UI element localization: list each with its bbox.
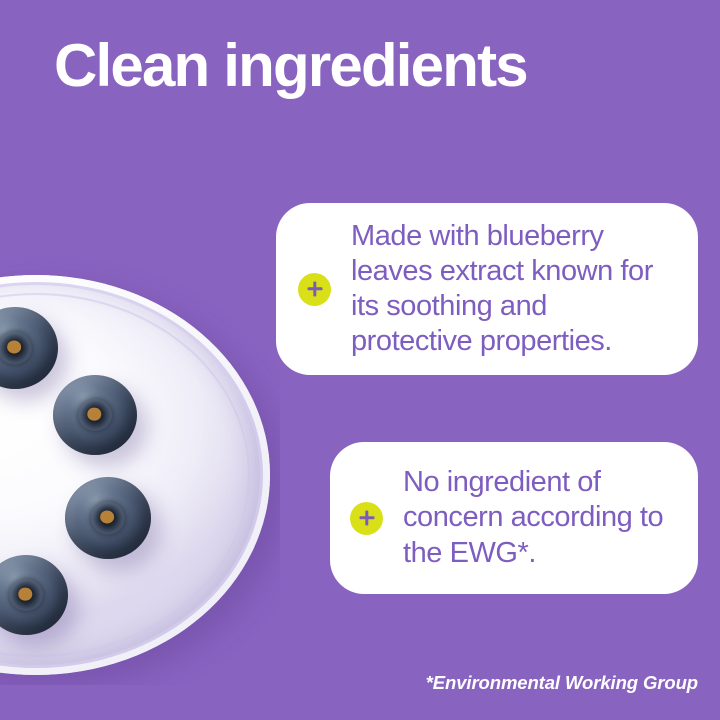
page-title: Clean ingredients	[54, 34, 674, 97]
feature-card-text: Made with blueberry leaves extract known…	[351, 219, 672, 359]
blueberry	[53, 375, 137, 455]
plus-icon	[298, 273, 331, 306]
plus-icon-vertical-bar	[365, 511, 368, 526]
feature-card[interactable]: Made with blueberry leaves extract known…	[276, 203, 698, 375]
plus-icon-vertical-bar	[313, 282, 316, 297]
product-photo	[0, 255, 280, 685]
product-photo-inner	[0, 255, 280, 685]
blueberry	[65, 477, 151, 559]
plus-icon	[350, 502, 383, 535]
feature-card-text: No ingredient of concern according to th…	[403, 465, 674, 570]
feature-card[interactable]: No ingredient of concern according to th…	[330, 442, 698, 594]
promo-slide: Clean ingredients M	[0, 0, 720, 720]
footnote: *Environmental Working Group	[426, 672, 698, 694]
